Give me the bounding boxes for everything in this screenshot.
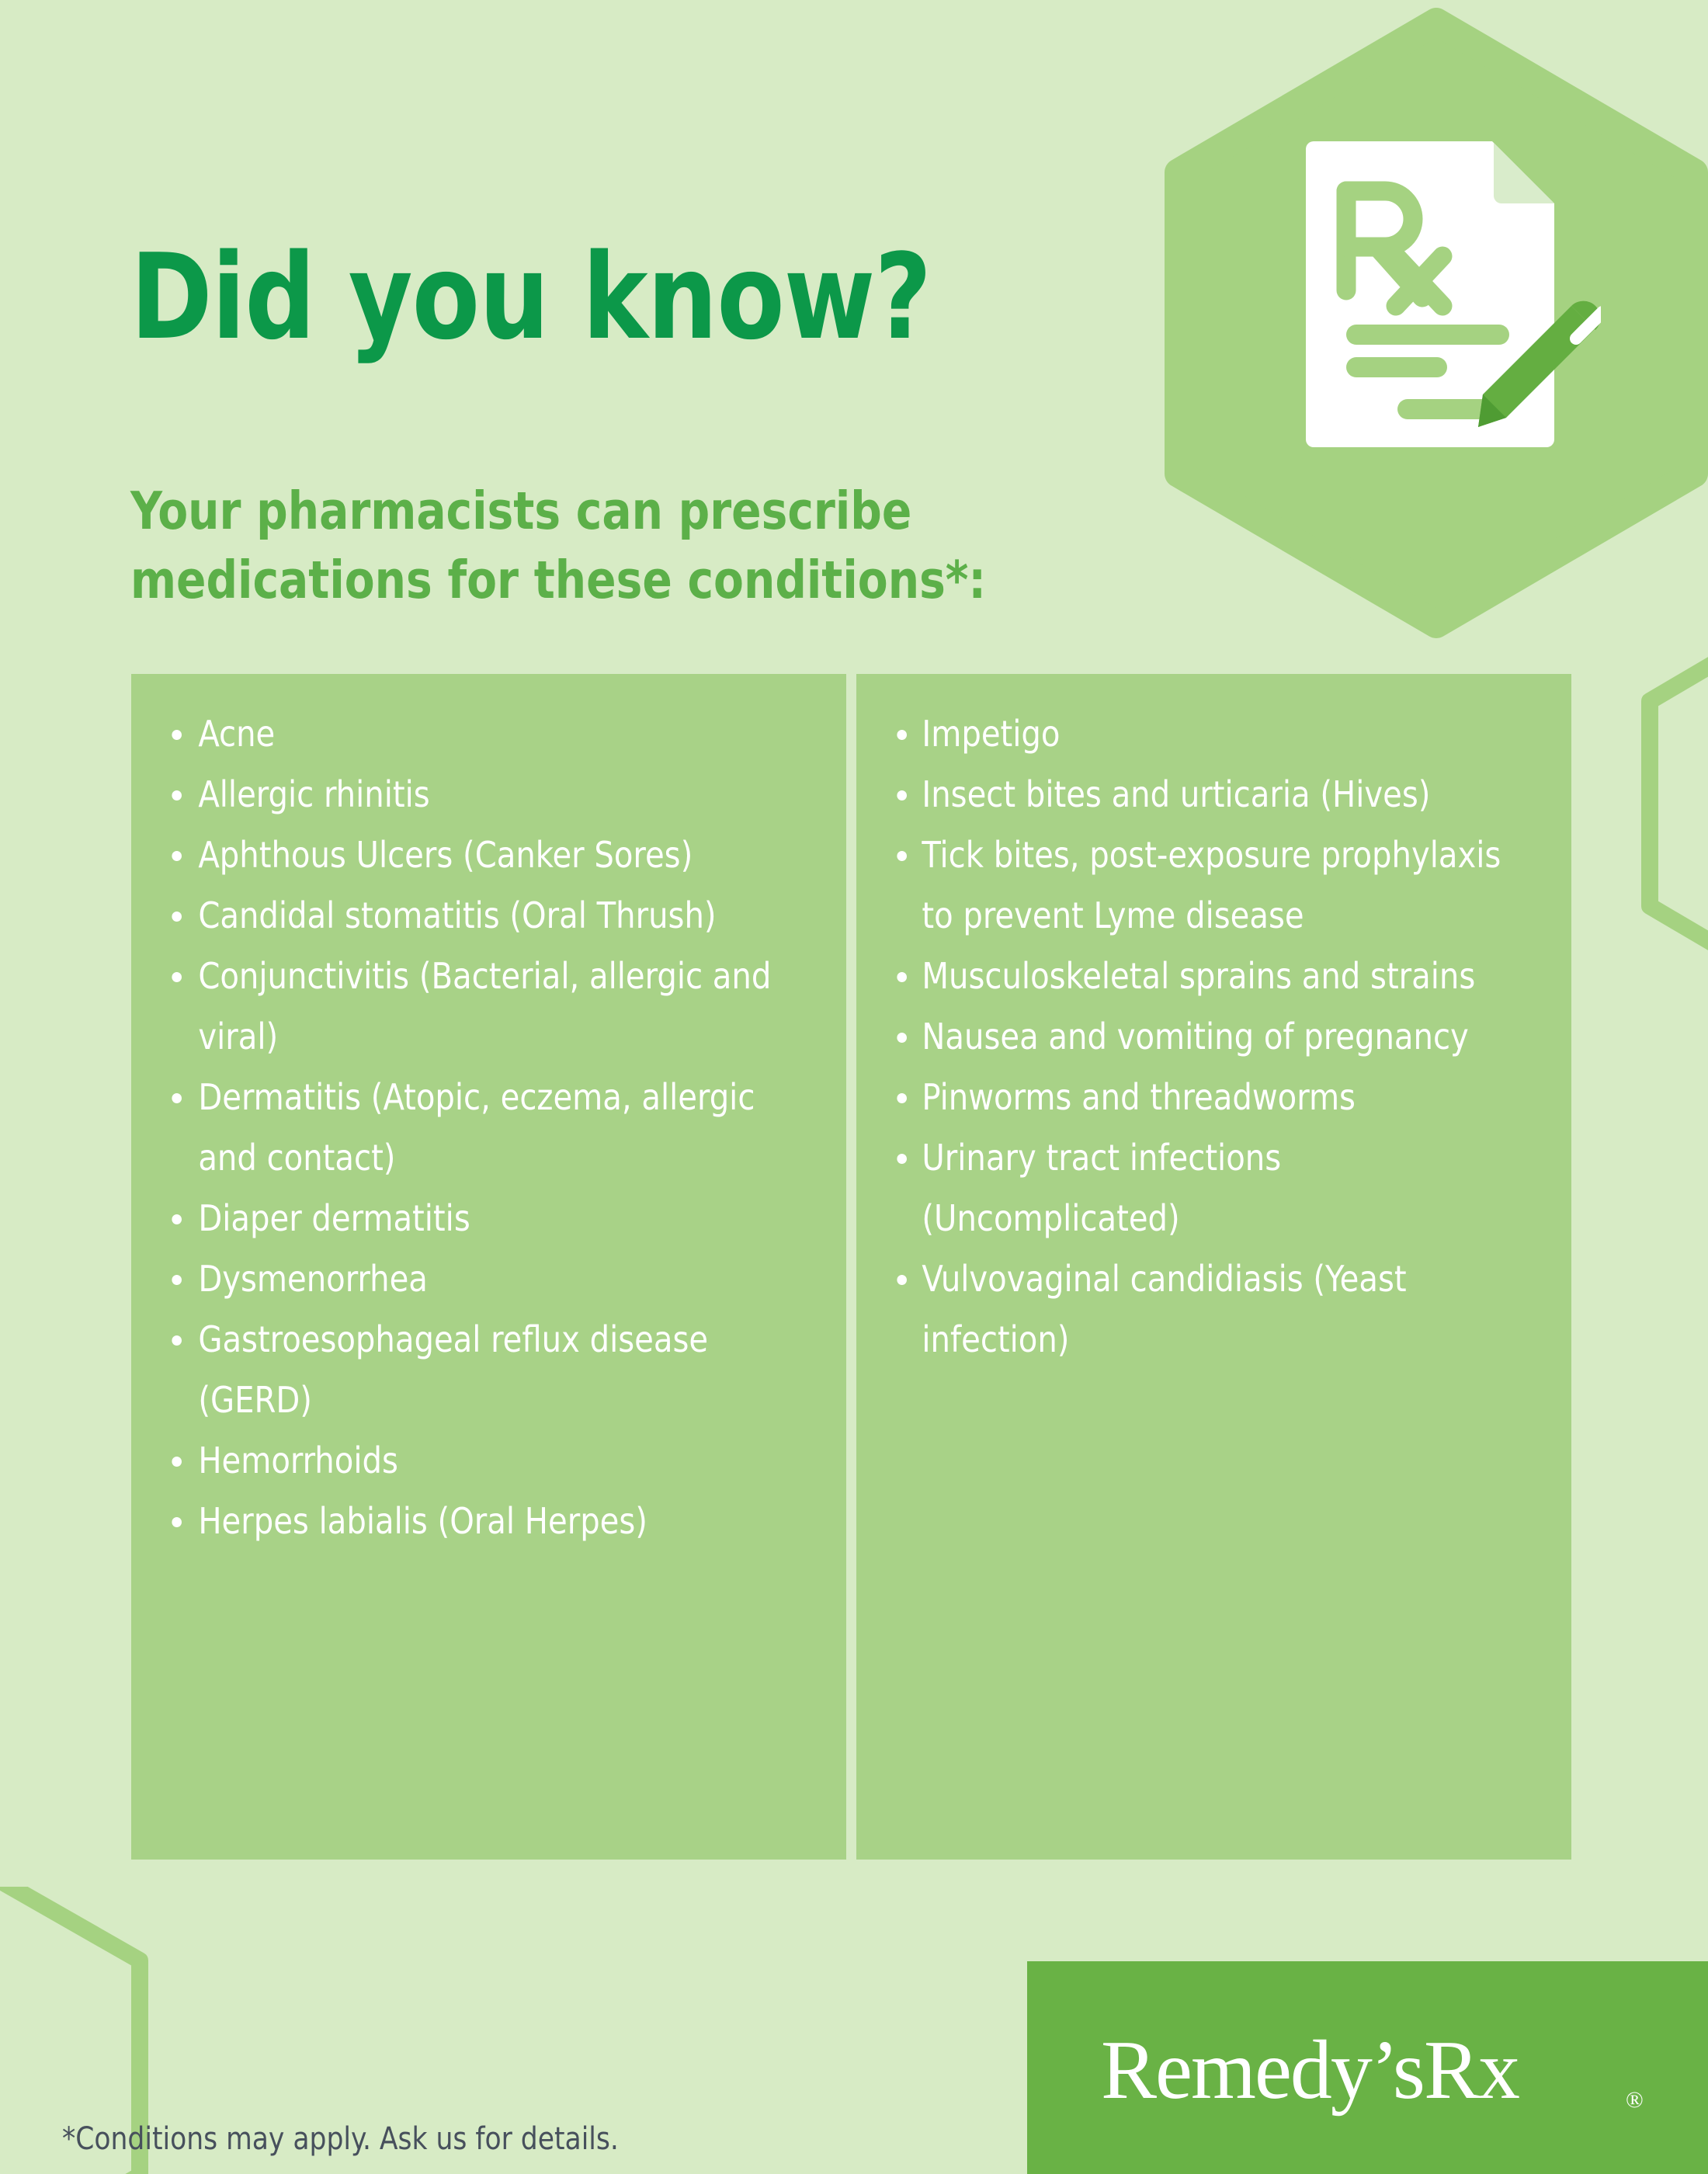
list-item: Herpes labialis (Oral Herpes) <box>131 1491 824 1551</box>
list-item: Aphthous Ulcers (Canker Sores) <box>131 825 824 885</box>
conditions-list-right: Impetigo Insect bites and urticaria (Hiv… <box>856 703 1571 1370</box>
list-item: Acne <box>131 703 824 764</box>
list-item: Tick bites, post-exposure prophylaxis to… <box>856 825 1550 946</box>
list-item: Insect bites and urticaria (Hives) <box>856 764 1550 825</box>
conditions-panel-left: Acne Allergic rhinitis Aphthous Ulcers (… <box>131 674 846 1860</box>
list-item: Vulvovaginal candidiasis (Yeast infectio… <box>856 1248 1550 1370</box>
list-item: Urinary tract infections (Uncomplicated) <box>856 1127 1550 1248</box>
list-item: Dermatitis (Atopic, eczema, allergic and… <box>131 1067 824 1188</box>
list-item: Diaper dermatitis <box>131 1188 824 1248</box>
list-item: Nausea and vomiting of pregnancy <box>856 1006 1550 1067</box>
list-item: Dysmenorrhea <box>131 1248 824 1309</box>
conditions-list-left: Acne Allergic rhinitis Aphthous Ulcers (… <box>131 703 846 1551</box>
conditions-panel-right: Impetigo Insect bites and urticaria (Hiv… <box>856 674 1571 1860</box>
poster-canvas: Did you know? Your pharmacists can presc… <box>0 0 1708 2174</box>
brand-logo: Remedy’sRx <box>1101 2029 1519 2113</box>
list-item: Impetigo <box>856 703 1550 764</box>
registered-trademark-icon: ® <box>1626 2089 1644 2112</box>
page-title: Did you know? <box>130 238 931 356</box>
footnote: *Conditions may apply. Ask us for detail… <box>62 2122 619 2156</box>
list-item: Conjunctivitis (Bacterial, allergic and … <box>131 946 824 1067</box>
page-subtitle: Your pharmacists can prescribe medicatio… <box>130 477 1079 615</box>
rx-document-icon <box>1298 138 1601 464</box>
list-item: Musculoskeletal sprains and strains <box>856 946 1550 1006</box>
list-item: Hemorrhoids <box>131 1430 824 1491</box>
list-item: Pinworms and threadworms <box>856 1067 1550 1127</box>
list-item: Gastroesophageal reflux disease (GERD) <box>131 1309 824 1430</box>
list-item: Allergic rhinitis <box>131 764 824 825</box>
list-item: Candidal stomatitis (Oral Thrush) <box>131 885 824 946</box>
